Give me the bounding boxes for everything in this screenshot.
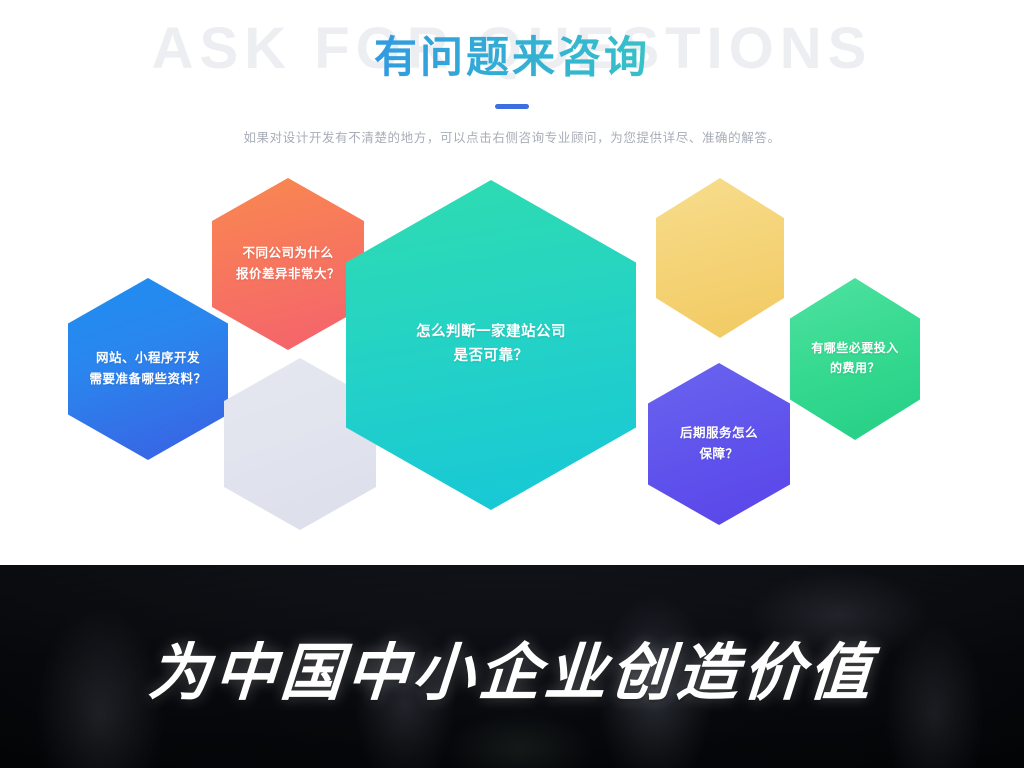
hex-line-1: 后期服务怎么	[680, 423, 758, 444]
hex-card-reliability[interactable]: 怎么判断一家建站公司 是否可靠？	[346, 180, 636, 510]
hex-card-materials[interactable]: 网站、小程序开发 需要准备哪些资料？	[68, 278, 228, 460]
page-title: 有问题来咨询	[0, 34, 1024, 83]
title-divider	[495, 104, 529, 109]
honeycomb-group: 网站、小程序开发 需要准备哪些资料？ 不同公司为什么 报价差异非常大？ 怎么判断…	[0, 160, 1024, 550]
hex-card-text: 后期服务怎么 保障？	[672, 423, 766, 464]
hex-line-1: 网站、小程序开发	[89, 348, 206, 369]
qa-section: ASK FOR QUESTIONS 有问题来咨询 如果对设计开发有不清楚的地方，…	[0, 0, 1024, 565]
hex-line-1: 有哪些必要投入	[811, 339, 899, 359]
hex-card-text: 有哪些必要投入 的费用？	[803, 339, 907, 379]
bottom-banner: 为中国中小企业创造价值	[0, 565, 1024, 768]
hex-card-after-service[interactable]: 后期服务怎么 保障？	[648, 363, 790, 525]
hex-decorative-yellow	[656, 178, 784, 338]
hex-card-text: 不同公司为什么 报价差异非常大？	[228, 243, 348, 284]
hex-line-2: 报价差异非常大？	[236, 264, 340, 285]
banner-slogan: 为中国中小企业创造价值	[0, 565, 1024, 768]
hex-card-text: 网站、小程序开发 需要准备哪些资料？	[81, 348, 214, 389]
hex-line-2: 需要准备哪些资料？	[89, 369, 206, 390]
section-heading: ASK FOR QUESTIONS 有问题来咨询 如果对设计开发有不清楚的地方，…	[0, 14, 1024, 139]
hex-card-text: 怎么判断一家建站公司 是否可靠？	[408, 321, 574, 369]
section-subtitle: 如果对设计开发有不清楚的地方，可以点击右侧咨询专业顾问，为您提供详尽、准确的解答…	[0, 127, 1024, 146]
hex-card-costs[interactable]: 有哪些必要投入 的费用？	[790, 278, 920, 440]
hex-line-2: 的费用？	[811, 359, 899, 379]
hex-line-2: 保障？	[680, 444, 758, 465]
hex-line-1: 不同公司为什么	[236, 243, 340, 264]
hex-card-pricing[interactable]: 不同公司为什么 报价差异非常大？	[212, 178, 364, 350]
hex-line-1: 怎么判断一家建站公司	[416, 321, 566, 345]
hex-line-2: 是否可靠？	[416, 345, 566, 369]
